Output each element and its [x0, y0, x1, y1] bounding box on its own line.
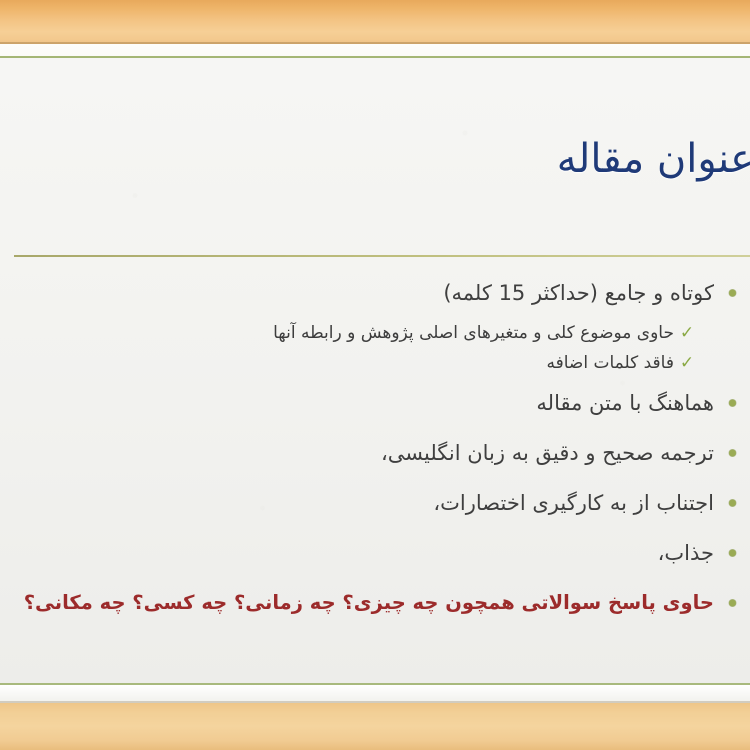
bullet-text: جذاب،	[658, 541, 714, 565]
bullet-item: حاوی پاسخ سوالاتی همچون چه چیزی؟ چه زمان…	[0, 578, 750, 628]
title-underline-rule	[14, 255, 750, 257]
top-green-rule	[0, 56, 750, 58]
bottom-decorative-band	[0, 703, 750, 750]
top-decorative-band	[0, 0, 750, 44]
slide-title: عنوان مقاله	[54, 136, 750, 182]
check-icon: ✓	[678, 354, 696, 372]
bullet-text: ترجمه صحیح و دقیق به زبان انگلیسی،	[381, 441, 714, 465]
bullet-dot-icon	[729, 450, 736, 457]
bullet-item: کوتاه و جامع (حداکثر 15 کلمه)	[0, 268, 750, 318]
bullet-text: هماهنگ با متن مقاله	[536, 391, 714, 415]
bottom-white-band	[0, 685, 750, 703]
bullet-text: فاقد کلمات اضافه	[547, 353, 674, 373]
check-icon: ✓	[678, 324, 696, 342]
bullet-subitem: ✓فاقد کلمات اضافه	[0, 348, 750, 378]
bullet-text: کوتاه و جامع (حداکثر 15 کلمه)	[443, 281, 714, 305]
bullet-item: ترجمه صحیح و دقیق به زبان انگلیسی،	[0, 428, 750, 478]
bullet-text: حاوی پاسخ سوالاتی همچون چه چیزی؟ چه زمان…	[24, 591, 714, 614]
presentation-slide: عنوان مقاله کوتاه و جامع (حداکثر 15 کلمه…	[0, 0, 750, 750]
bullet-dot-icon	[729, 600, 736, 607]
bullet-dot-icon	[729, 400, 736, 407]
bullet-dot-icon	[729, 500, 736, 507]
bullet-item: هماهنگ با متن مقاله	[0, 378, 750, 428]
bullet-list: کوتاه و جامع (حداکثر 15 کلمه)✓حاوی موضوع…	[0, 268, 750, 628]
bullet-text: اجتناب از به کارگیری اختصارات،	[433, 491, 714, 515]
bullet-dot-icon	[729, 290, 736, 297]
bullet-item: اجتناب از به کارگیری اختصارات،	[0, 478, 750, 528]
bullet-dot-icon	[729, 550, 736, 557]
bullet-item: جذاب،	[0, 528, 750, 578]
bullet-subitem: ✓حاوی موضوع کلی و متغیرهای اصلی پژوهش و …	[0, 318, 750, 348]
bullet-text: حاوی موضوع کلی و متغیرهای اصلی پژوهش و ر…	[273, 323, 674, 343]
